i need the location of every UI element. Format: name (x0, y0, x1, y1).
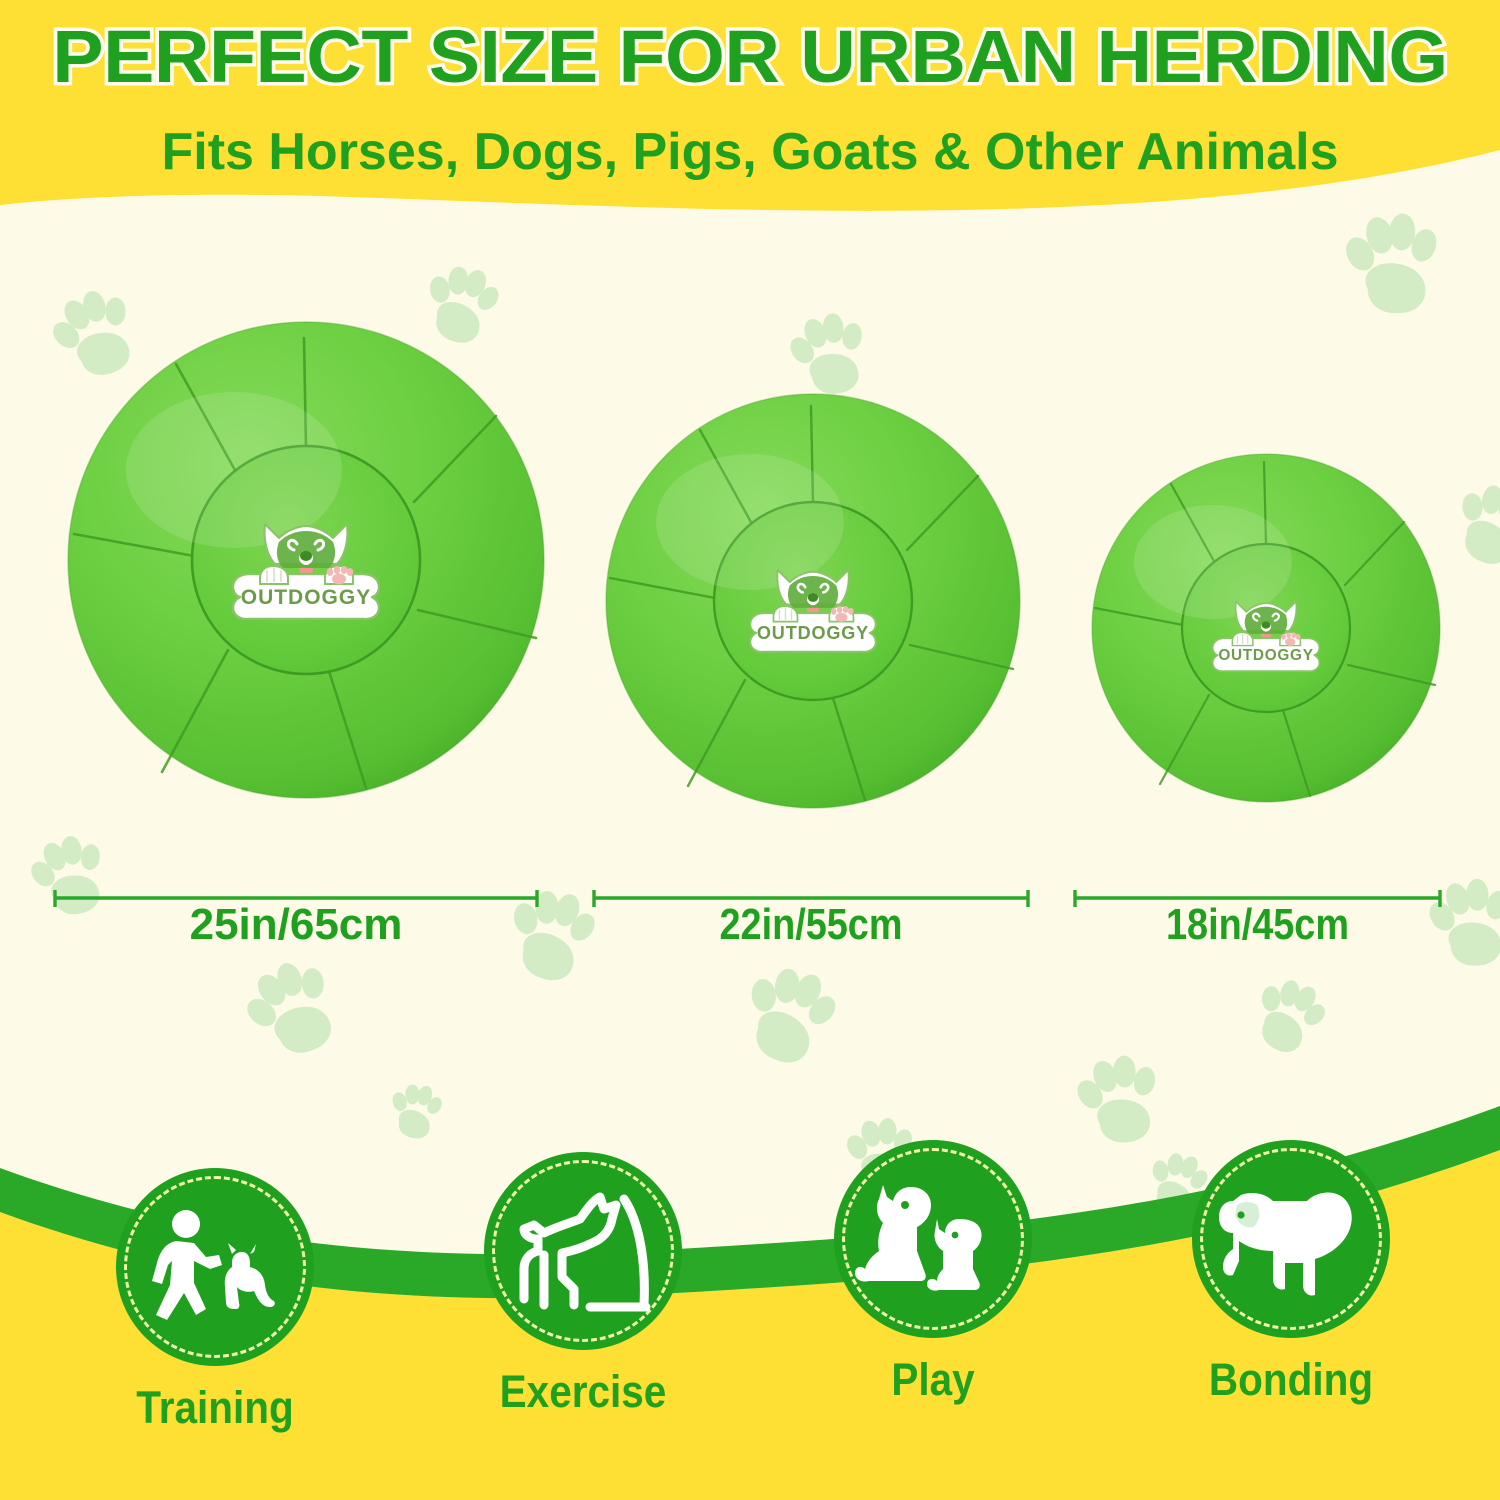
person-walking-dog-icon (116, 1168, 314, 1366)
standing-dog-icon (1192, 1140, 1390, 1338)
size-label-small: 18in/45cm (1101, 900, 1415, 950)
feature-exercise[interactable]: Exercise (478, 1152, 688, 1418)
exercise-badge[interactable] (484, 1152, 682, 1350)
two-dogs-sitting-icon (834, 1140, 1032, 1338)
feature-play[interactable]: Play (828, 1140, 1038, 1406)
size-label-medium: 22in/55cm (624, 900, 997, 950)
product-infographic: PERFECT SIZE FOR URBAN HERDING Fits Hors… (0, 0, 1500, 1500)
bonding-badge[interactable] (1192, 1140, 1390, 1338)
feature-label-bonding: Bonding (1197, 1354, 1386, 1406)
play-badge[interactable] (834, 1140, 1032, 1338)
feature-bonding[interactable]: Bonding (1186, 1140, 1396, 1406)
training-badge[interactable] (116, 1168, 314, 1366)
feature-label-exercise: Exercise (489, 1366, 678, 1418)
dog-jumping-hurdle-icon (484, 1152, 682, 1350)
size-label-large: 25in/65cm (55, 900, 537, 950)
feature-training[interactable]: Training (110, 1168, 320, 1434)
feature-label-training: Training (121, 1382, 310, 1434)
feature-label-play: Play (839, 1354, 1028, 1406)
